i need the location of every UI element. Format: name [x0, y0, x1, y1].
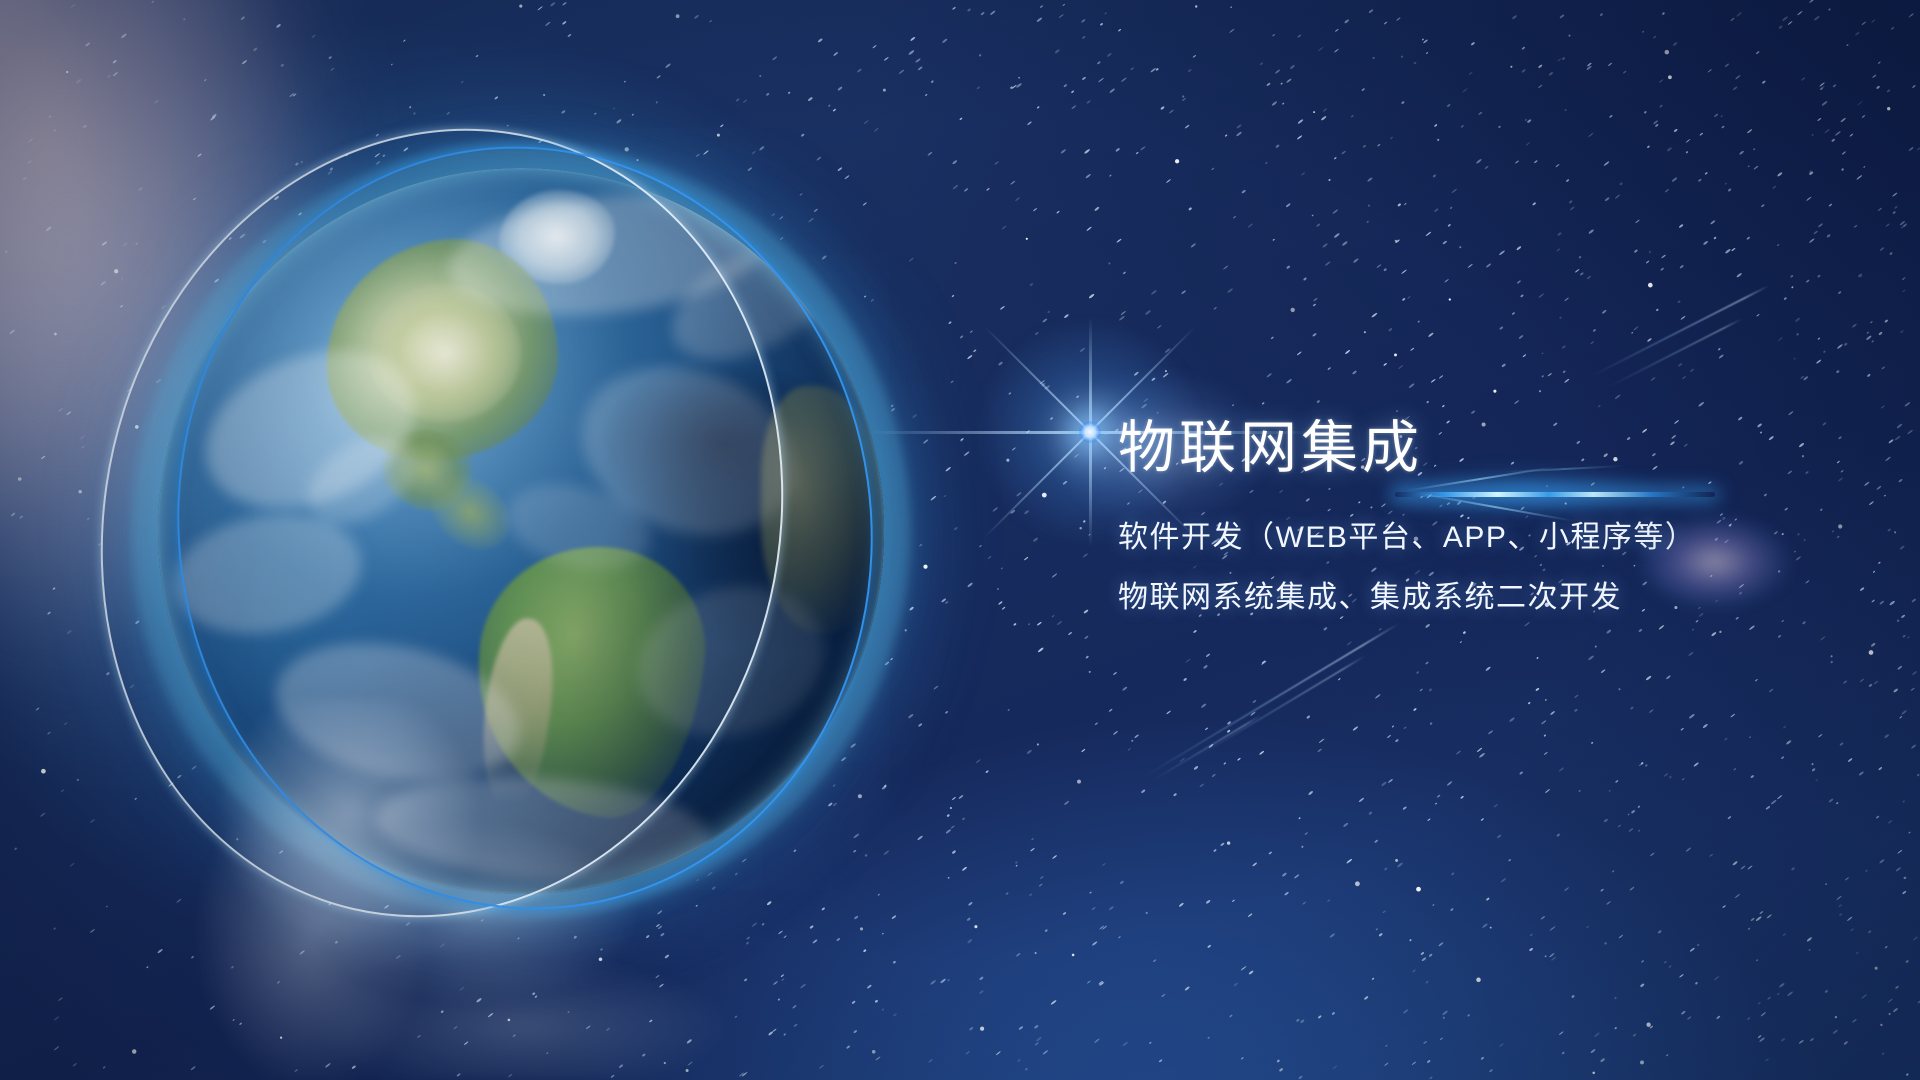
banner-title: 物联网集成 [1118, 420, 1696, 477]
banner-subtitle-line-1: 软件开发（WEB平台、APP、小程序等） [1118, 523, 1696, 553]
hero-banner: 物联网集成 软件开发（WEB平台、APP、小程序等） 物联网系统集成、集成系统二… [0, 0, 1920, 1080]
banner-subtitle-line-2: 物联网系统集成、集成系统二次开发 [1118, 583, 1696, 613]
banner-text-block: 物联网集成 软件开发（WEB平台、APP、小程序等） 物联网系统集成、集成系统二… [1118, 420, 1696, 613]
